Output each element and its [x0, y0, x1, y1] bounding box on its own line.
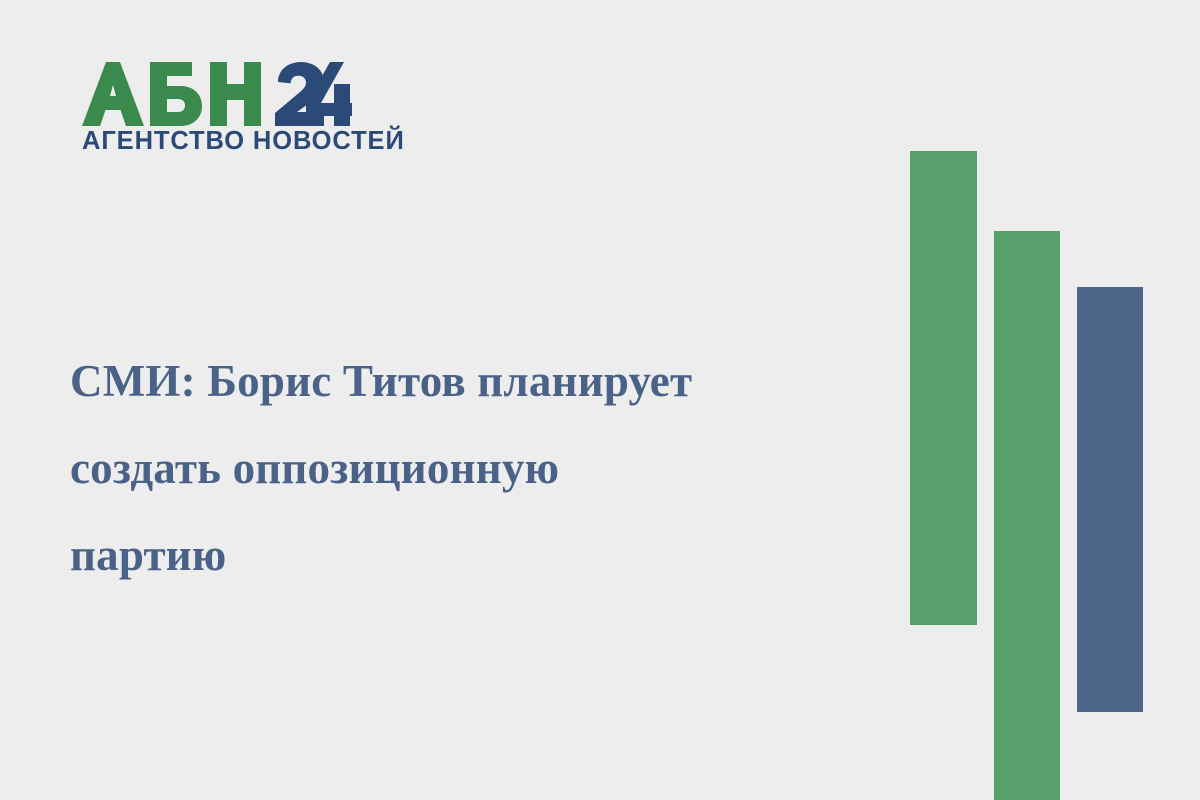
headline: СМИ: Борис Титов планирует создать оппоз… [70, 338, 880, 599]
chart-bar-3 [1077, 287, 1143, 712]
chart-bar-2 [994, 231, 1060, 800]
chart-bar-1 [910, 151, 977, 625]
brand-logo: АГЕНТСТВО НОВОСТЕЙ [82, 62, 372, 155]
news-card: АГЕНТСТВО НОВОСТЕЙ СМИ: Борис Титов план… [0, 0, 1200, 800]
headline-line-1: СМИ: Борис Титов планирует [70, 338, 880, 425]
headline-line-2: создать оппозиционную [70, 425, 880, 512]
brand-tagline: АГЕНТСТВО НОВОСТЕЙ [82, 129, 372, 155]
headline-line-3: партию [70, 512, 880, 599]
abn24-logo-icon [82, 62, 352, 126]
